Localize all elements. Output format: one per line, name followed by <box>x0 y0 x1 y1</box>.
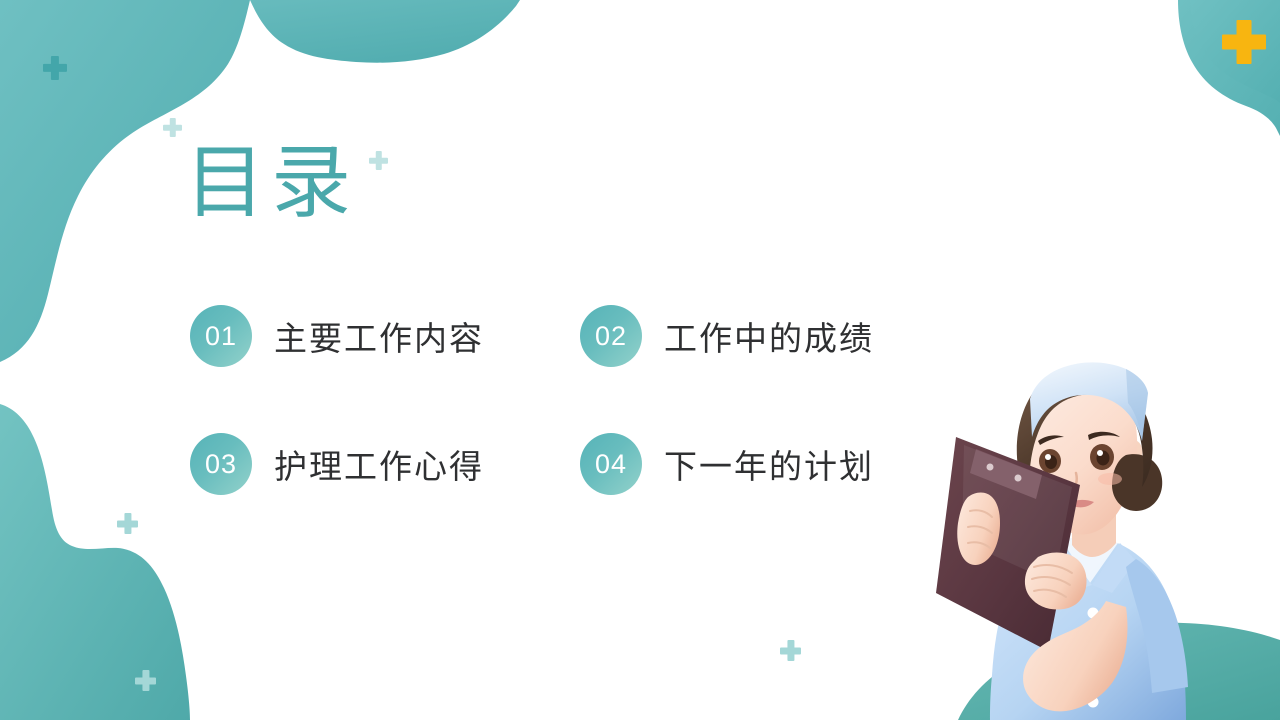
cross-title-right-icon <box>369 151 388 170</box>
toc-number-badge: 01 <box>190 305 252 367</box>
cross-top-right-yellow-icon <box>1222 20 1266 64</box>
page-title: 目录 <box>185 143 357 223</box>
nurse-hand-right <box>1025 553 1087 610</box>
cross-left-mid-icon <box>117 513 138 534</box>
toc-number-badge: 02 <box>580 305 642 367</box>
nurse-with-clipboard-illustration <box>930 345 1280 720</box>
toc-item-label: 工作中的成绩 <box>664 312 874 360</box>
cross-top-left-dark-icon <box>43 56 67 80</box>
toc-item-01[interactable]: 01 主要工作内容 <box>190 303 580 369</box>
toc-item-label: 主要工作内容 <box>274 312 484 360</box>
toc-item-label: 下一年的计划 <box>664 440 874 488</box>
blob-bottom-left <box>0 404 190 720</box>
toc-item-label: 护理工作心得 <box>274 440 484 488</box>
toc-number-badge: 03 <box>190 433 252 495</box>
toc-item-03[interactable]: 03 护理工作心得 <box>190 431 580 497</box>
nurse-blush-right <box>1098 473 1122 485</box>
toc-item-02[interactable]: 02 工作中的成绩 <box>580 303 970 369</box>
cross-bottom-center-icon <box>780 640 801 661</box>
table-of-contents: 01 主要工作内容 02 工作中的成绩 03 护理工作心得 04 下一年的计划 <box>190 303 950 559</box>
toc-number-badge: 04 <box>580 433 642 495</box>
nurse-eye-right-highlight <box>1097 450 1103 456</box>
cross-bottom-left-icon <box>135 670 156 691</box>
cross-title-upper-icon <box>163 118 182 137</box>
toc-item-04[interactable]: 04 下一年的计划 <box>580 431 970 497</box>
slide-canvas: 目录 01 主要工作内容 02 工作中的成绩 03 护理工作心得 04 下一年的… <box>0 0 1280 720</box>
blob-top-left-wave <box>0 0 520 63</box>
nurse-eye-left-highlight <box>1045 454 1051 460</box>
